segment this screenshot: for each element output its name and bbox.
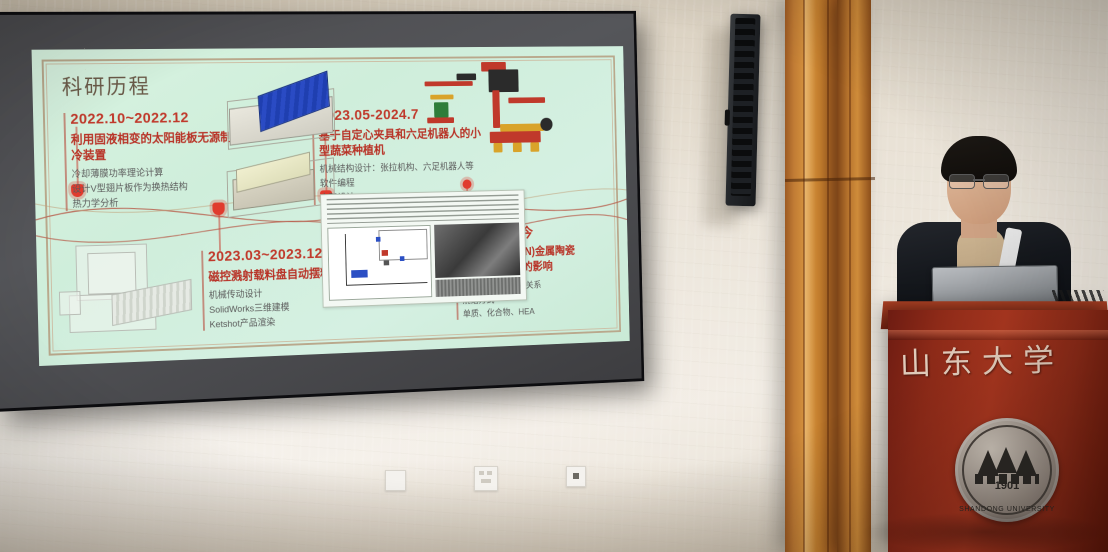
milestone-date: 2022.10~2022.12 <box>70 109 233 128</box>
robot-part <box>530 142 539 152</box>
pillar-grain-line <box>827 0 829 552</box>
milestone-headline: 利用固液相变的太阳能板无源制冷装置 <box>71 129 234 164</box>
robot-part <box>425 81 473 86</box>
speaker-indicator <box>725 110 730 126</box>
glasses-lens <box>983 174 1009 189</box>
milestone-2022-10: 2022.10~2022.12 利用固液相变的太阳能板无源制冷装置 冷却薄膜功率… <box>70 109 235 213</box>
pillar-grain-line <box>849 0 851 552</box>
data-point <box>376 237 381 242</box>
robot-part <box>508 97 545 103</box>
glasses-bridge <box>973 179 985 181</box>
robot-part <box>490 131 541 143</box>
hexapod-robot-render <box>406 56 559 162</box>
render-side-box <box>59 291 81 316</box>
podium-calligraphy: 山东大学 <box>899 333 1100 390</box>
data-port[interactable] <box>566 466 586 487</box>
scatter-plot <box>327 225 432 301</box>
robot-part <box>513 143 522 153</box>
data-point <box>351 270 368 278</box>
sem-micrograph <box>434 223 520 278</box>
blank-wall-plate <box>385 470 406 491</box>
robot-part <box>488 69 518 92</box>
wooden-pillar-right <box>837 0 871 552</box>
emblem-mountains-icon <box>977 446 1037 476</box>
paper-abstract-text <box>327 194 519 224</box>
lecture-hall-scene: 科研历程 2022.10~2022.12 利用固液相变的太阳能板无源制冷装置 <box>0 0 1108 552</box>
podium-floor-shadow <box>860 512 1108 552</box>
data-point <box>382 250 388 256</box>
milestone-bullets: 冷却薄膜功率理论计算 设计V型翅片板作为换热结构 热力学分析 <box>72 166 235 213</box>
sem-micrograph-caption-strip <box>435 277 520 297</box>
plot-x-axis <box>346 282 427 286</box>
socket-slot <box>479 471 484 475</box>
port-hole <box>573 473 579 479</box>
pillar-highlight <box>804 0 816 552</box>
robot-part <box>492 90 500 128</box>
robot-part <box>457 73 477 80</box>
robot-part <box>427 117 454 123</box>
robot-part <box>493 143 502 153</box>
paper-figure <box>320 189 527 307</box>
render-column <box>87 252 136 295</box>
projection-screen: 科研历程 2022.10~2022.12 利用固液相变的太阳能板无源制冷装置 <box>0 11 644 412</box>
wall-speaker <box>725 14 760 207</box>
presentation-slide: 科研历程 2022.10~2022.12 利用固液相变的太阳能板无源制冷装置 <box>32 46 630 366</box>
glasses-lens <box>949 174 975 189</box>
data-point <box>384 260 390 265</box>
presenter-glasses <box>949 174 1009 187</box>
robot-part <box>430 95 453 100</box>
socket-slot <box>487 471 492 475</box>
university-emblem: 1901 SHANDONG UNIVERSITY <box>955 418 1059 522</box>
speaker-grille <box>731 18 756 196</box>
data-point <box>400 256 405 261</box>
sputtering-loader-render <box>58 242 193 341</box>
emblem-year: 1901 <box>955 480 1059 492</box>
robot-part <box>434 102 449 117</box>
pillar-grain-line <box>803 0 805 552</box>
solar-panel-render <box>225 81 336 144</box>
power-socket[interactable] <box>474 466 498 491</box>
plot-y-axis <box>345 234 347 286</box>
socket-slot <box>481 479 491 483</box>
slide-title: 科研历程 <box>61 71 151 102</box>
robot-part <box>540 118 552 131</box>
